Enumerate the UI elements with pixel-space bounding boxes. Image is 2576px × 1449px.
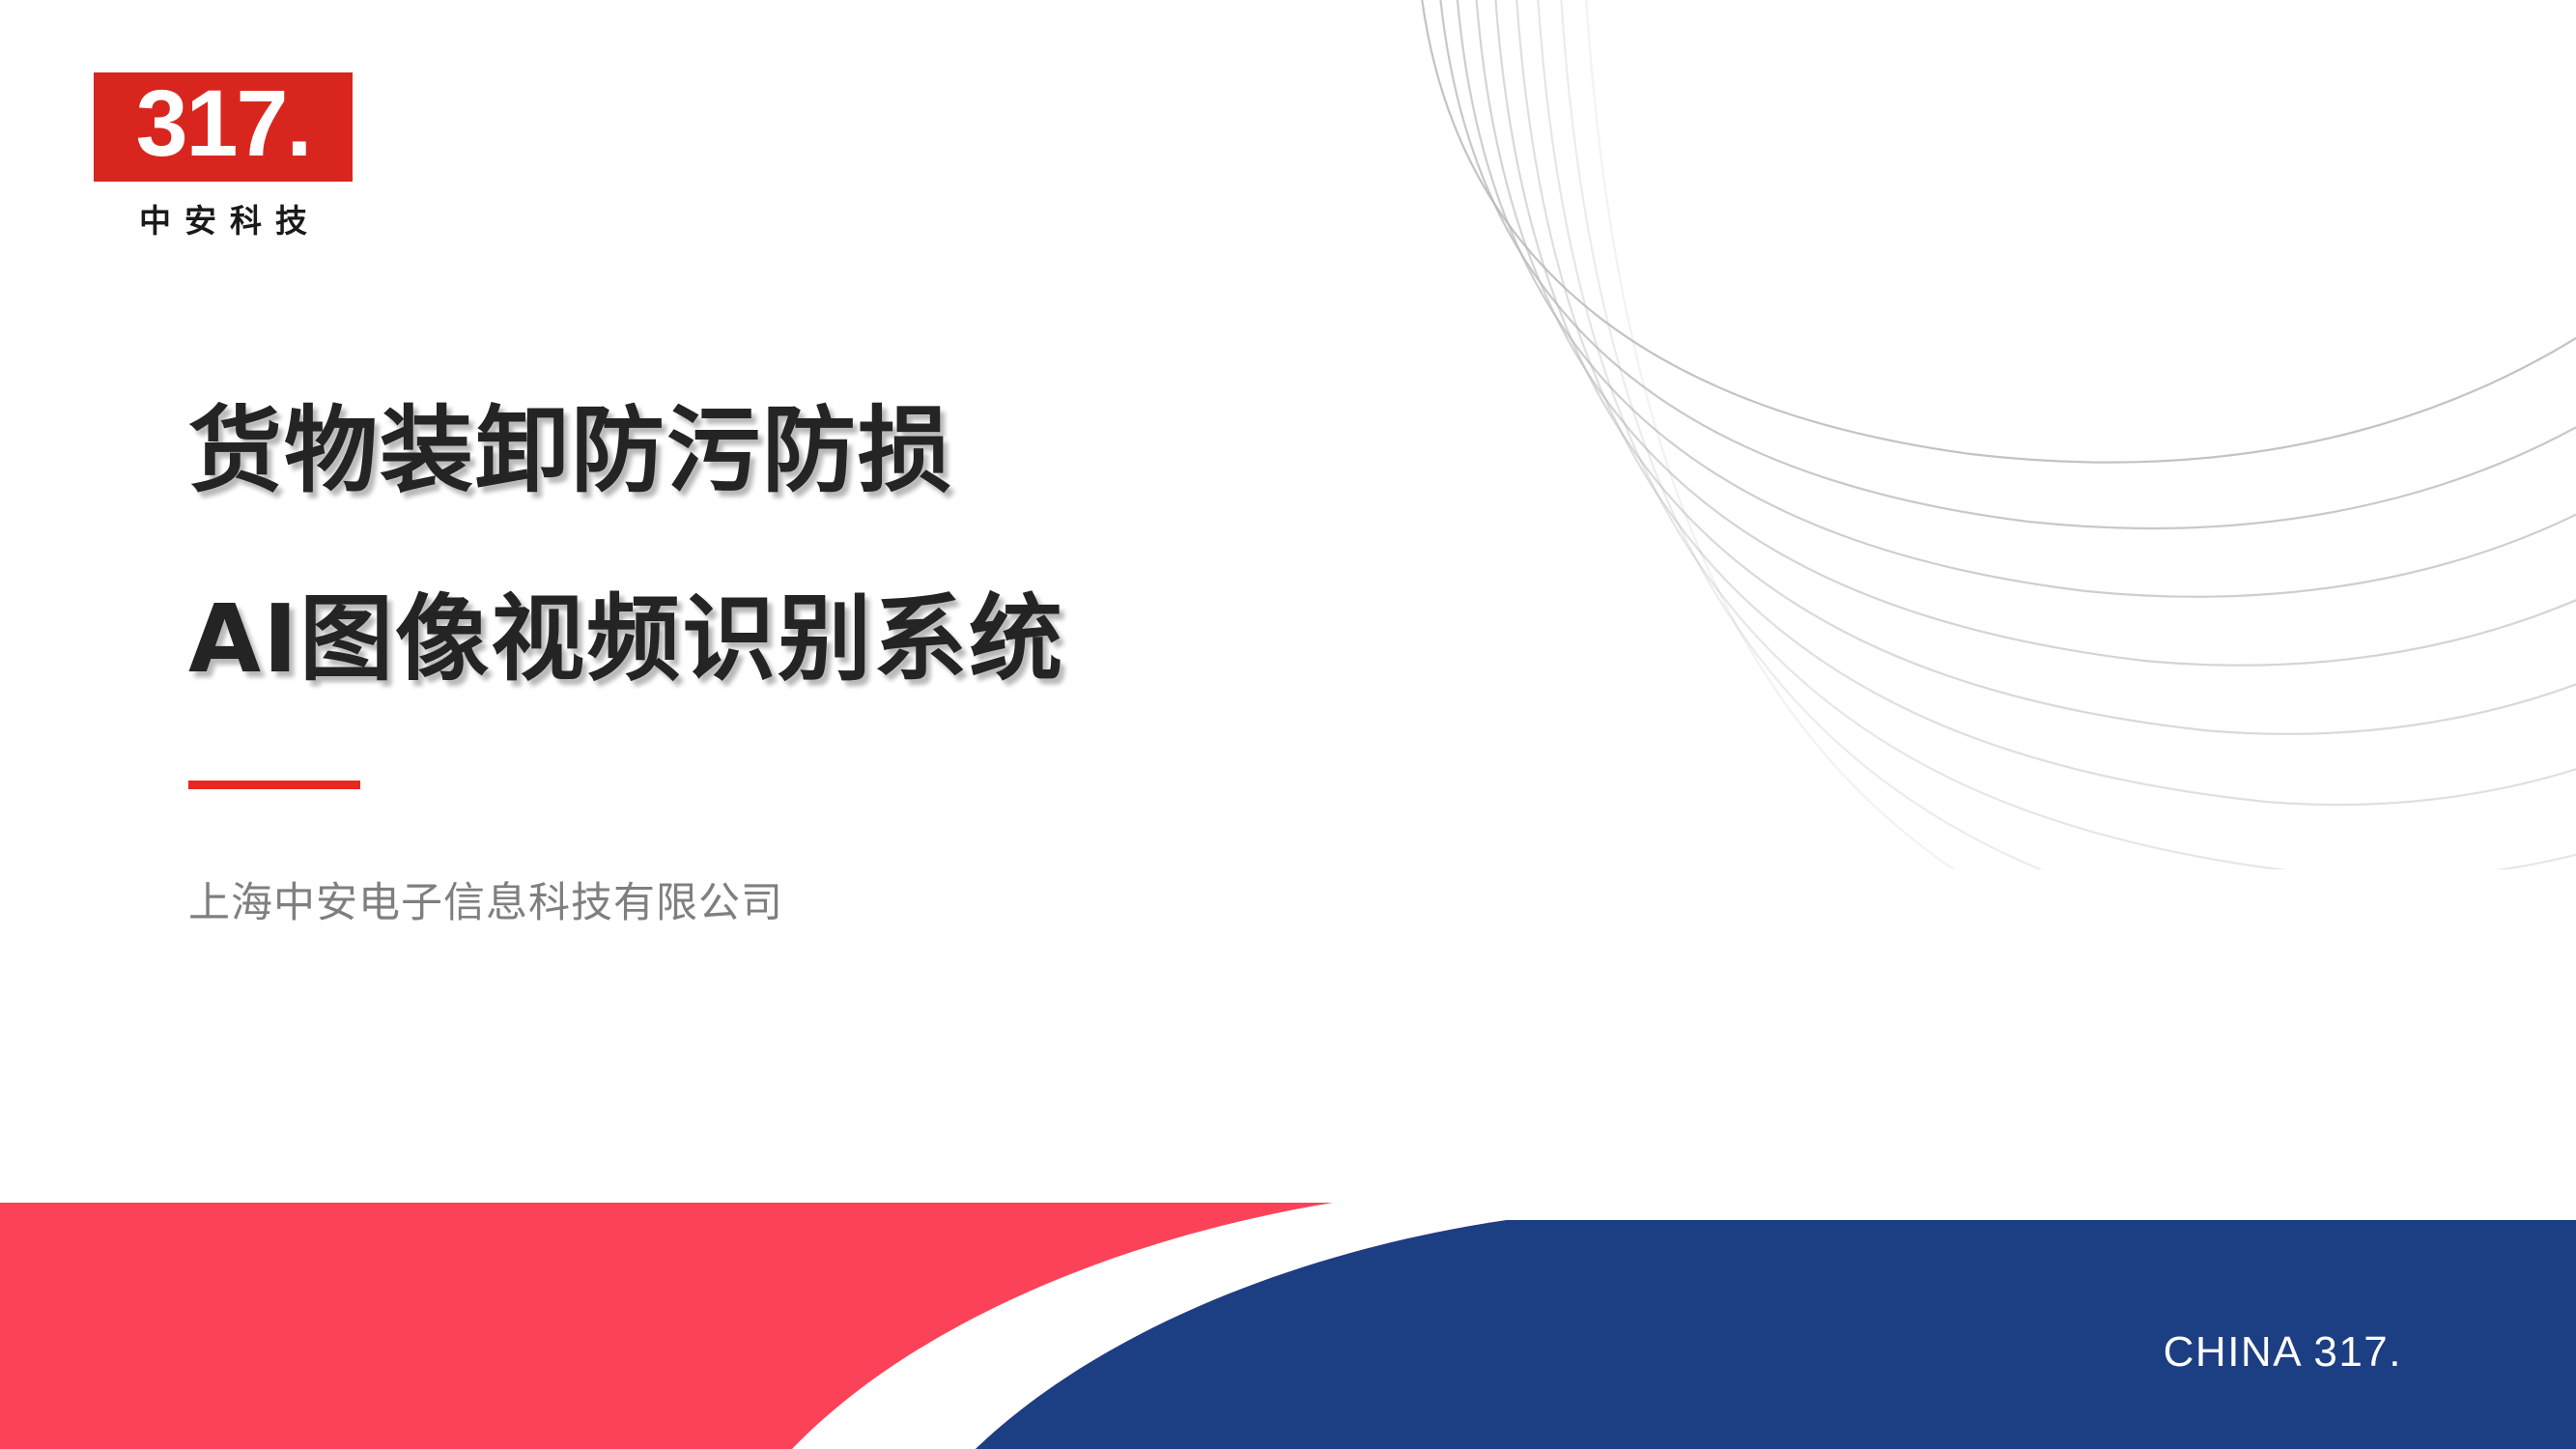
decorative-swoosh-lines-icon <box>1294 0 2576 869</box>
title-line-2: AI图像视频识别系统 <box>188 592 1064 686</box>
page-title: 货物装卸防污防损 AI图像视频识别系统 <box>188 404 1064 686</box>
logo-subtitle-text: 中安科技 <box>94 195 353 241</box>
banner-brand-label: CHINA 317. <box>2164 1328 2402 1377</box>
company-name-text: 上海中安电子信息科技有限公司 <box>188 879 783 929</box>
company-logo: 317. 中安科技 <box>94 72 353 241</box>
bottom-banner <box>0 1203 2576 1449</box>
slide-canvas: 317. 中安科技 货物装卸防污防损 AI图像视频识别系统 上海中安电子信息科技… <box>0 0 2576 1449</box>
logo-mark-text: 317. <box>136 76 311 170</box>
title-line-1: 货物装卸防污防损 <box>188 404 1064 497</box>
title-divider-rule <box>188 781 360 789</box>
logo-mark-317: 317. <box>94 72 353 182</box>
